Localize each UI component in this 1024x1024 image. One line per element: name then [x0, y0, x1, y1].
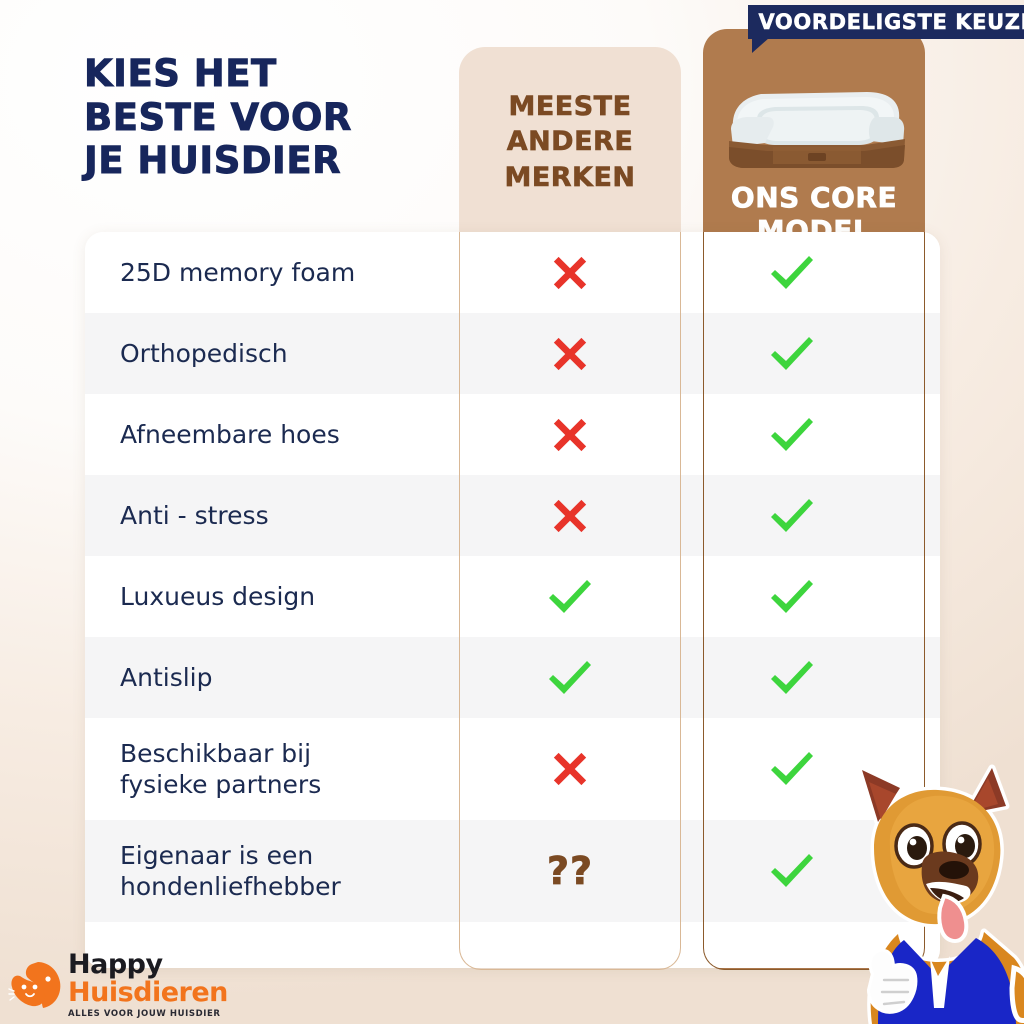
headline-line-1: KIES HET	[84, 52, 444, 96]
other-title-line-3: MERKEN	[504, 160, 635, 195]
table-row: Afneembare hoes	[85, 394, 940, 475]
cross-icon	[551, 750, 589, 788]
cell-our-model	[681, 253, 903, 293]
headline-line-2: BESTE VOOR	[84, 96, 444, 140]
cell-other-brands	[459, 750, 681, 788]
check-icon	[768, 658, 816, 698]
feature-label: 25D memory foam	[85, 257, 459, 288]
logo-tagline: ALLES VOOR JOUW HUISDIER	[68, 1010, 228, 1019]
brand-logo[interactable]: Happy Huisdieren ALLES VOOR JOUW HUISDIE…	[8, 952, 238, 1018]
product-image-dog-bed	[715, 67, 913, 175]
logo-name-secondary: Huisdieren	[68, 979, 228, 1006]
check-icon	[768, 253, 816, 293]
cell-other-brands	[459, 658, 681, 698]
comparison-infographic: KIES HET BESTE VOOR JE HUISDIER MEESTE A…	[0, 0, 1024, 1024]
table-row: Antislip	[85, 637, 940, 718]
check-icon	[768, 851, 816, 891]
feature-label: Luxueus design	[85, 581, 459, 612]
cross-icon	[551, 416, 589, 454]
badge-pointer-icon	[752, 38, 769, 53]
cell-our-model	[681, 577, 903, 617]
table-row: Eigenaar is eenhondenliefhebber??	[85, 820, 940, 922]
cell-our-model	[681, 496, 903, 536]
check-icon	[768, 334, 816, 374]
check-icon	[768, 577, 816, 617]
ours-title-line-1: ONS CORE	[703, 181, 925, 214]
cell-other-brands	[459, 335, 681, 373]
check-icon	[546, 658, 594, 698]
mascot-illustration	[838, 762, 1024, 1024]
cell-our-model	[681, 334, 903, 374]
cell-other-brands	[459, 577, 681, 617]
unknown-mark: ??	[547, 849, 593, 893]
other-title-line-2: ANDERE	[504, 124, 635, 159]
dog-cat-logo-icon	[8, 956, 64, 1014]
feature-label: Beschikbaar bijfysieke partners	[85, 738, 459, 801]
feature-label: Anti - stress	[85, 500, 459, 531]
check-icon	[768, 496, 816, 536]
table-row: Beschikbaar bijfysieke partners	[85, 718, 940, 820]
cell-other-brands	[459, 416, 681, 454]
table-row: Luxueus design	[85, 556, 940, 637]
cross-icon	[551, 497, 589, 535]
cross-icon	[551, 254, 589, 292]
table-row: 25D memory foam	[85, 232, 940, 313]
feature-label: Antislip	[85, 662, 459, 693]
logo-name-primary: Happy	[68, 951, 228, 978]
check-icon	[546, 577, 594, 617]
column-other-brands-title: MEESTE ANDERE MERKEN	[504, 89, 635, 194]
check-icon	[768, 415, 816, 455]
cell-our-model	[681, 658, 903, 698]
badge-label: VOORDELIGSTE KEUZE	[750, 10, 1024, 34]
other-title-line-1: MEESTE	[504, 89, 635, 124]
check-icon	[768, 749, 816, 789]
cell-other-brands	[459, 254, 681, 292]
feature-label: Afneembare hoes	[85, 419, 459, 450]
table-row: Anti - stress	[85, 475, 940, 556]
cell-other-brands: ??	[459, 849, 681, 893]
cell-our-model	[681, 415, 903, 455]
best-value-badge: VOORDELIGSTE KEUZE	[748, 5, 1024, 39]
feature-label: Orthopedisch	[85, 338, 459, 369]
page-title: KIES HET BESTE VOOR JE HUISDIER	[84, 52, 444, 183]
comparison-table: 25D memory foamOrthopedischAfneembare ho…	[85, 232, 940, 968]
headline-line-3: JE HUISDIER	[84, 139, 444, 183]
cell-other-brands	[459, 497, 681, 535]
feature-label: Eigenaar is eenhondenliefhebber	[85, 840, 459, 903]
column-other-brands-header: MEESTE ANDERE MERKEN	[459, 47, 681, 237]
table-row: Orthopedisch	[85, 313, 940, 394]
comparison-table-body: 25D memory foamOrthopedischAfneembare ho…	[85, 232, 940, 922]
cross-icon	[551, 335, 589, 373]
